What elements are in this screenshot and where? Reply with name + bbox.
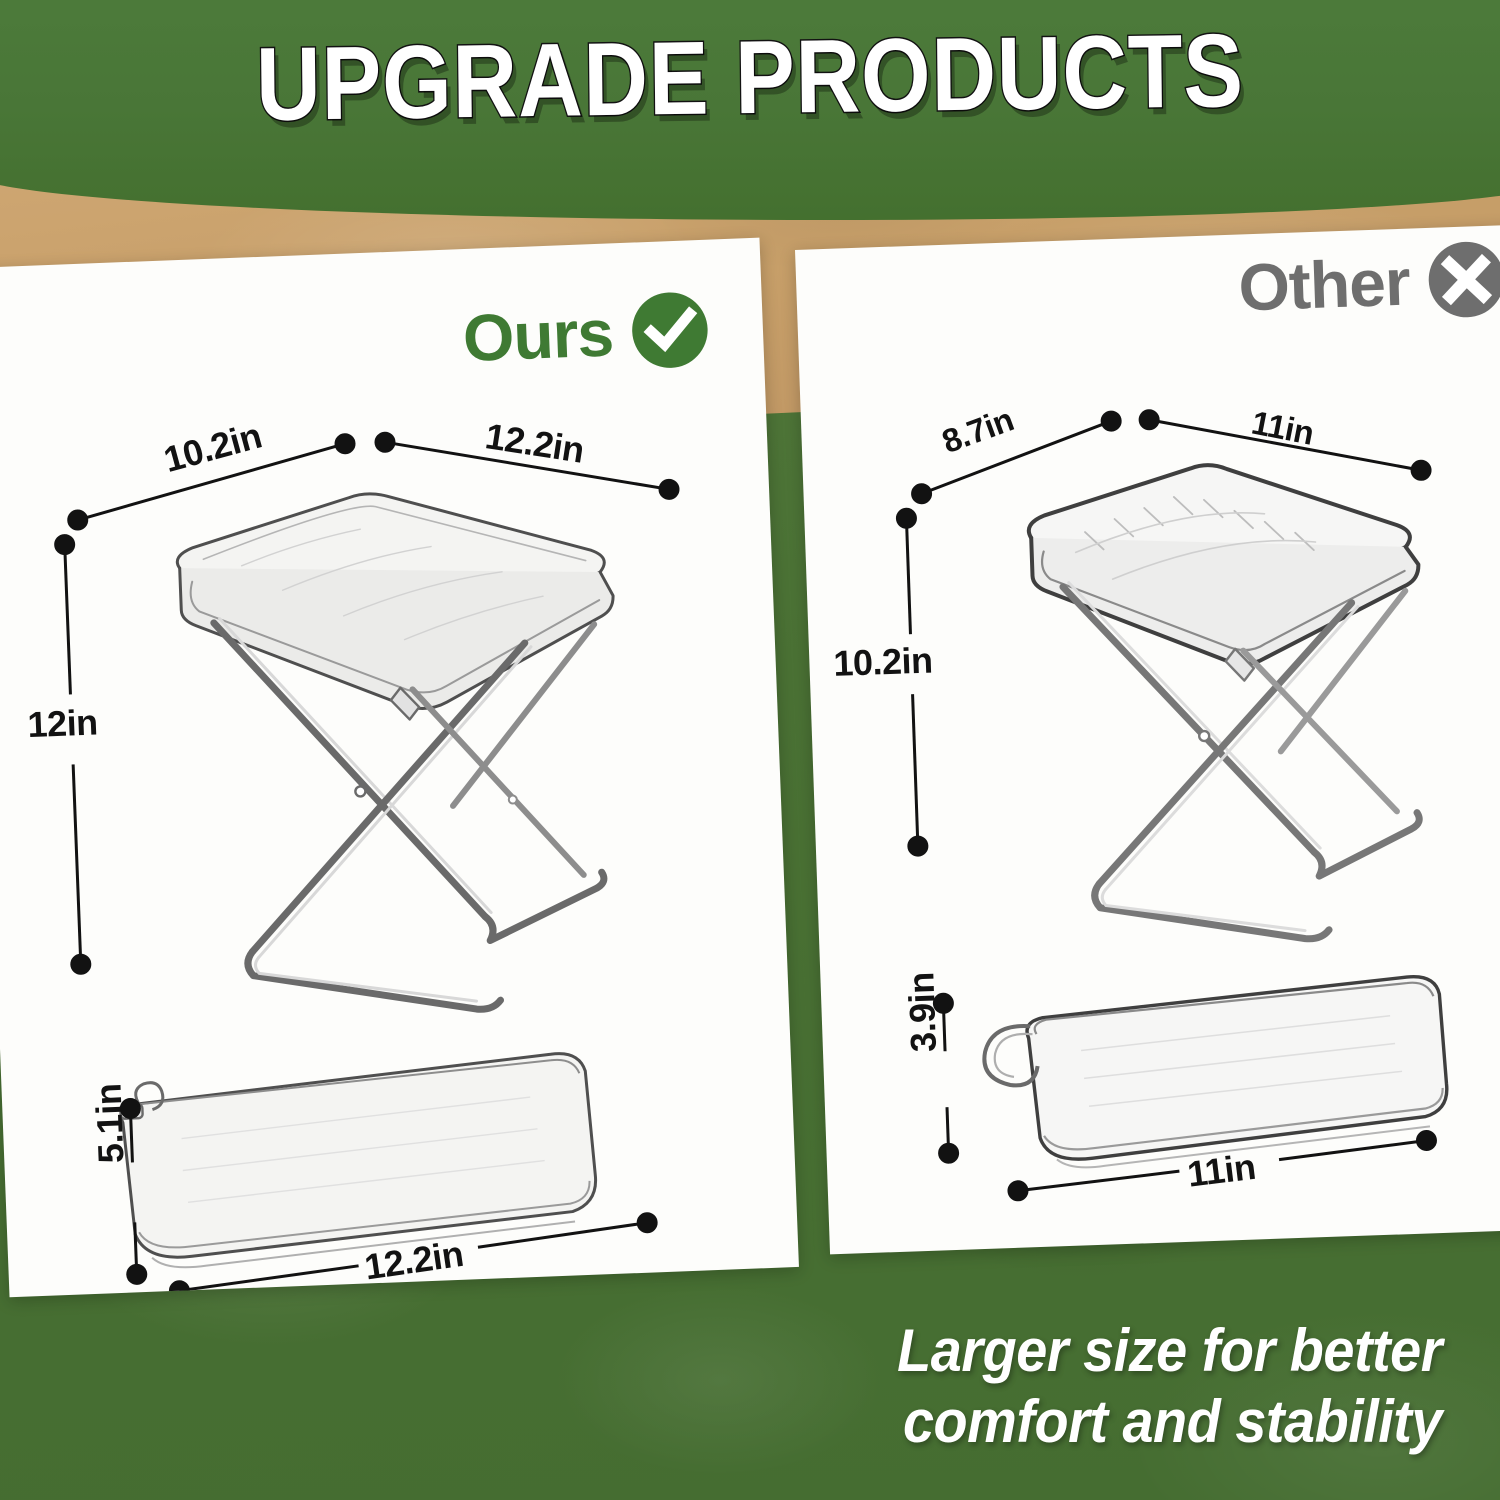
ours-stool-height-label: 12in	[27, 701, 99, 746]
other-bag-height-label: 3.9in	[900, 972, 945, 1053]
ours-bag-height-label: 5.1in	[87, 1083, 132, 1164]
tagline-line-2: comfort and stability	[735, 1387, 1442, 1458]
tagline-line-1: Larger size for better	[735, 1316, 1442, 1387]
tagline: Larger size for better comfort and stabi…	[735, 1316, 1442, 1458]
other-stool-height-label: 10.2in	[833, 639, 933, 684]
page-title: UPGRADE PRODUCTS	[104, 15, 1395, 143]
ours-panel: Ours	[0, 238, 799, 1298]
other-dimension-lines	[795, 224, 1500, 1254]
other-bag-width-label: 11in	[1185, 1146, 1258, 1196]
infographic-stage: UPGRADE PRODUCTS Ours	[0, 0, 1500, 1500]
other-panel: Other	[795, 224, 1500, 1254]
